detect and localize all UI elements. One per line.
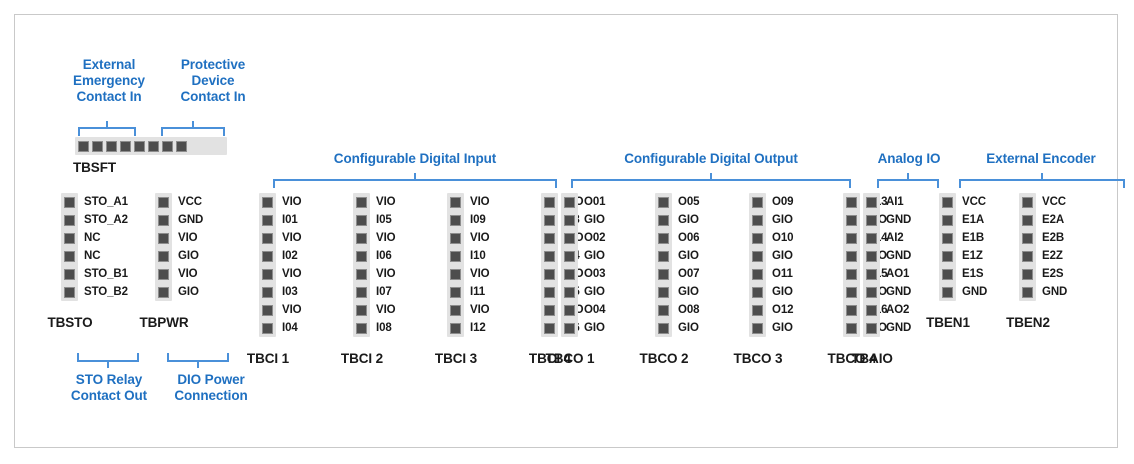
pin-label: I04 xyxy=(282,322,298,334)
pin-row[interactable]: GIO xyxy=(561,283,605,301)
pin[interactable] xyxy=(752,197,763,208)
pin[interactable] xyxy=(262,305,273,316)
block-name-tbco2: TBCO 2 xyxy=(633,351,695,367)
pin-label: GIO xyxy=(178,250,199,262)
pin-row[interactable]: AI2 xyxy=(863,229,911,247)
pin-label: GND xyxy=(962,286,987,298)
pin-row[interactable]: O07 xyxy=(655,265,699,283)
pin-row[interactable]: O06 xyxy=(655,229,699,247)
pin-label: VIO xyxy=(470,232,490,244)
pin[interactable] xyxy=(356,233,367,244)
pin-label: GIO xyxy=(178,286,199,298)
pin-row[interactable]: NC xyxy=(61,229,128,247)
pin-row[interactable]: AO1 xyxy=(863,265,911,283)
pin[interactable] xyxy=(1022,287,1033,298)
group-label-dio-power-connection: DIO PowerConnection xyxy=(161,372,261,404)
pin[interactable] xyxy=(262,197,273,208)
pin-row[interactable]: I11 xyxy=(447,283,490,301)
pin-row[interactable]: I04 xyxy=(259,319,302,337)
pin[interactable] xyxy=(544,269,555,280)
pin[interactable] xyxy=(846,233,857,244)
pin[interactable] xyxy=(752,323,763,334)
pin-row[interactable]: O08 xyxy=(655,301,699,319)
pin[interactable] xyxy=(658,215,669,226)
diagram-frame: ExternalEmergencyContact In ProtectiveDe… xyxy=(14,14,1118,448)
pin-label: GND xyxy=(1042,286,1067,298)
section-label-configurable-digital-input: Configurable Digital Input xyxy=(271,151,559,167)
pin[interactable] xyxy=(752,287,763,298)
pin-row[interactable]: E1S xyxy=(939,265,987,283)
pin[interactable] xyxy=(450,233,461,244)
pin[interactable] xyxy=(942,251,953,262)
pin-label: STO_B1 xyxy=(84,268,128,280)
pin[interactable] xyxy=(64,197,75,208)
pin[interactable] xyxy=(564,287,575,298)
group-label-protective-device-contact-in: ProtectiveDeviceContact In xyxy=(165,57,261,105)
block-name-tbaio: TBAIO xyxy=(841,351,903,367)
pin[interactable] xyxy=(158,287,169,298)
pin-row[interactable]: E1Z xyxy=(939,247,987,265)
pin[interactable] xyxy=(544,197,555,208)
pin[interactable] xyxy=(866,233,877,244)
pin[interactable] xyxy=(64,287,75,298)
pin[interactable] xyxy=(450,323,461,334)
pin-row[interactable]: GIO xyxy=(561,211,605,229)
pin-label: GIO xyxy=(678,214,699,226)
pin[interactable] xyxy=(564,251,575,262)
pin-row[interactable]: I12 xyxy=(447,319,490,337)
pin[interactable] xyxy=(846,287,857,298)
terminal-block-tbaio[interactable]: AI1GNDAI2GNDAO1GNDAO2GND xyxy=(863,193,911,337)
block-name-tbsft: TBSFT xyxy=(73,160,143,176)
pin-row[interactable]: VIO xyxy=(447,301,490,319)
block-name-tbci2: TBCI 2 xyxy=(331,351,393,367)
pin[interactable] xyxy=(544,323,555,334)
group-label-external-emergency-contact-in: ExternalEmergencyContact In xyxy=(61,57,157,105)
pin-label: VCC xyxy=(1042,196,1066,208)
pin-label: I05 xyxy=(376,214,392,226)
pin-label: O03 xyxy=(584,268,605,280)
pin-label: VIO xyxy=(376,268,396,280)
pin-row[interactable]: I07 xyxy=(353,283,396,301)
pin[interactable] xyxy=(92,141,103,152)
pin[interactable] xyxy=(846,269,857,280)
pin[interactable] xyxy=(846,305,857,316)
block-name-tben1: TBEN1 xyxy=(917,315,979,331)
pin-row[interactable]: O03 xyxy=(561,265,605,283)
pin[interactable] xyxy=(262,233,273,244)
pin-row[interactable]: GND xyxy=(939,283,987,301)
pin[interactable] xyxy=(450,251,461,262)
pin[interactable] xyxy=(148,141,159,152)
pin-row[interactable]: VIO xyxy=(447,229,490,247)
pin[interactable] xyxy=(1022,197,1033,208)
pin-label: I03 xyxy=(282,286,298,298)
pin[interactable] xyxy=(356,251,367,262)
pin-label: O01 xyxy=(584,196,605,208)
pin[interactable] xyxy=(176,141,187,152)
pin-label: GND xyxy=(886,250,911,262)
pin-row[interactable]: O02 xyxy=(561,229,605,247)
pin-label: O09 xyxy=(772,196,793,208)
pin-label: E2S xyxy=(1042,268,1063,280)
pin[interactable] xyxy=(866,215,877,226)
pin-row[interactable]: E2B xyxy=(1019,229,1067,247)
pin-label: VIO xyxy=(282,268,302,280)
pin-row[interactable]: NC xyxy=(61,247,128,265)
pin-label: GIO xyxy=(584,286,605,298)
pin-row[interactable]: VIO xyxy=(353,229,396,247)
pin-row[interactable]: GND xyxy=(155,211,203,229)
pin[interactable] xyxy=(544,251,555,262)
pin-row[interactable]: STO_A1 xyxy=(61,193,128,211)
pin-row[interactable]: GIO xyxy=(561,247,605,265)
pin[interactable] xyxy=(658,323,669,334)
pin[interactable] xyxy=(158,215,169,226)
block-name-tben2: TBEN2 xyxy=(997,315,1059,331)
pin-label: GND xyxy=(886,286,911,298)
pin-label: VIO xyxy=(282,232,302,244)
terminal-block-tbsft[interactable] xyxy=(75,137,227,155)
pin[interactable] xyxy=(356,269,367,280)
pin[interactable] xyxy=(158,233,169,244)
pin[interactable] xyxy=(866,251,877,262)
pin-row[interactable]: STO_B1 xyxy=(61,265,128,283)
pin-label: I12 xyxy=(470,322,486,334)
pin[interactable] xyxy=(450,269,461,280)
pin-row[interactable]: E1A xyxy=(939,211,987,229)
pin[interactable] xyxy=(1022,233,1033,244)
pin[interactable] xyxy=(262,287,273,298)
pin[interactable] xyxy=(752,269,763,280)
pin-label: E1Z xyxy=(962,250,983,262)
pin-label: GND xyxy=(178,214,203,226)
pin-label: STO_A1 xyxy=(84,196,128,208)
bracket-external-emergency xyxy=(78,121,136,137)
pin[interactable] xyxy=(544,215,555,226)
pin-row[interactable]: GIO xyxy=(155,247,203,265)
pin[interactable] xyxy=(450,215,461,226)
pin-row[interactable]: AO2 xyxy=(863,301,911,319)
pin[interactable] xyxy=(658,269,669,280)
pin[interactable] xyxy=(658,197,669,208)
pin-row[interactable]: GIO xyxy=(749,319,793,337)
pin-row[interactable]: O10 xyxy=(749,229,793,247)
pin[interactable] xyxy=(450,305,461,316)
pin[interactable] xyxy=(866,197,877,208)
pin-label: I07 xyxy=(376,286,392,298)
pin[interactable] xyxy=(64,233,75,244)
pin[interactable] xyxy=(450,287,461,298)
pin-label: O08 xyxy=(678,304,699,316)
pin-row[interactable]: GIO xyxy=(655,283,699,301)
pin-label: I01 xyxy=(282,214,298,226)
pin-label: E1S xyxy=(962,268,983,280)
pin-row[interactable]: I09 xyxy=(447,211,490,229)
terminal-block-tbco1[interactable]: O01GIOO02GIOO03GIOO04GIO xyxy=(561,193,605,337)
pin-row[interactable]: I05 xyxy=(353,211,396,229)
pin[interactable] xyxy=(356,287,367,298)
block-name-tbsto: TBSTO xyxy=(39,315,101,331)
pin[interactable] xyxy=(846,251,857,262)
pin-row[interactable]: GND xyxy=(863,211,911,229)
terminal-block-tbci1[interactable]: VIOI01VIOI02VIOI03VIOI04 xyxy=(259,193,302,337)
bracket-external-encoder xyxy=(959,173,1125,189)
pin[interactable] xyxy=(64,251,75,262)
pin-row[interactable]: VIO xyxy=(155,265,203,283)
pin-label: VIO xyxy=(470,304,490,316)
bracket-protective-device xyxy=(161,121,225,137)
pin-row[interactable]: O01 xyxy=(561,193,605,211)
pin-row[interactable]: VCC xyxy=(939,193,987,211)
pin-label: O12 xyxy=(772,304,793,316)
pin-label: O05 xyxy=(678,196,699,208)
block-name-tbpwr: TBPWR xyxy=(133,315,195,331)
terminal-block-tbco3[interactable]: O09GIOO10GIOO11GIOO12GIO xyxy=(749,193,793,337)
pin-label: AO2 xyxy=(886,304,909,316)
pin-label: STO_B2 xyxy=(84,286,128,298)
pin-label: GIO xyxy=(584,322,605,334)
pin[interactable] xyxy=(544,287,555,298)
pin-row[interactable]: VCC xyxy=(155,193,203,211)
pin[interactable] xyxy=(262,251,273,262)
pin-label: GIO xyxy=(678,322,699,334)
bracket-configurable-digital-output xyxy=(571,173,851,189)
pin[interactable] xyxy=(356,305,367,316)
pin[interactable] xyxy=(544,305,555,316)
bracket-configurable-digital-input xyxy=(273,173,557,189)
pin[interactable] xyxy=(564,305,575,316)
pin[interactable] xyxy=(356,323,367,334)
block-name-tbco1: TBCO 1 xyxy=(539,351,601,367)
block-name-tbci1: TBCI 1 xyxy=(237,351,299,367)
pin-row[interactable]: VIO xyxy=(353,301,396,319)
pin-row[interactable]: GIO xyxy=(561,319,605,337)
pin[interactable] xyxy=(866,305,877,316)
pin[interactable] xyxy=(262,269,273,280)
pin-label: O07 xyxy=(678,268,699,280)
pin-label: I10 xyxy=(470,250,486,262)
pin-label: GIO xyxy=(678,286,699,298)
pin[interactable] xyxy=(64,269,75,280)
section-label-analog-io: Analog IO xyxy=(867,151,951,167)
pin-row[interactable]: GIO xyxy=(749,211,793,229)
pin-row[interactable]: I02 xyxy=(259,247,302,265)
pin-label: GIO xyxy=(772,322,793,334)
pin-row[interactable]: VIO xyxy=(259,193,302,211)
pin-label: GIO xyxy=(584,214,605,226)
pin-row[interactable]: O09 xyxy=(749,193,793,211)
pin-row[interactable]: GIO xyxy=(749,283,793,301)
pin-label: O06 xyxy=(678,232,699,244)
pin[interactable] xyxy=(658,251,669,262)
pin[interactable] xyxy=(846,215,857,226)
terminal-block-tbsto[interactable]: STO_A1STO_A2NCNCSTO_B1STO_B2 xyxy=(61,193,128,301)
pin-label: I09 xyxy=(470,214,486,226)
terminal-block-tben2[interactable]: VCCE2AE2BE2ZE2SGND xyxy=(1019,193,1067,301)
pin-label: E2A xyxy=(1042,214,1064,226)
block-name-tbco3: TBCO 3 xyxy=(727,351,789,367)
pin-row[interactable]: AI1 xyxy=(863,193,911,211)
pin-row[interactable]: GIO xyxy=(155,283,203,301)
pin-label: GIO xyxy=(772,214,793,226)
pin-row[interactable]: GIO xyxy=(655,319,699,337)
bracket-sto-relay-contact-out xyxy=(77,353,139,369)
pin-row[interactable]: VIO xyxy=(447,193,490,211)
group-label-sto-relay-contact-out: STO RelayContact Out xyxy=(59,372,159,404)
pin[interactable] xyxy=(134,141,145,152)
pin-row[interactable]: GIO xyxy=(655,247,699,265)
pin-row[interactable]: VIO xyxy=(353,193,396,211)
pin-row[interactable]: GND xyxy=(1019,283,1067,301)
pin-label: AI2 xyxy=(886,232,904,244)
pin[interactable] xyxy=(752,305,763,316)
pin[interactable] xyxy=(658,233,669,244)
pin-row[interactable]: GND xyxy=(863,283,911,301)
pin[interactable] xyxy=(356,197,367,208)
pin-row[interactable]: O12 xyxy=(749,301,793,319)
pin[interactable] xyxy=(846,197,857,208)
pin[interactable] xyxy=(78,141,89,152)
pin[interactable] xyxy=(942,215,953,226)
pin-row[interactable]: VIO xyxy=(155,229,203,247)
pin-label: STO_A2 xyxy=(84,214,128,226)
pin[interactable] xyxy=(658,287,669,298)
pin-label: VIO xyxy=(282,304,302,316)
pin[interactable] xyxy=(262,323,273,334)
pin[interactable] xyxy=(162,141,173,152)
pin[interactable] xyxy=(564,323,575,334)
pin-row[interactable]: E1B xyxy=(939,229,987,247)
pin[interactable] xyxy=(846,323,857,334)
section-label-configurable-digital-output: Configurable Digital Output xyxy=(567,151,855,167)
pin[interactable] xyxy=(120,141,131,152)
terminal-block-tbci3[interactable]: VIOI09VIOI10VIOI11VIOI12 xyxy=(447,193,490,337)
pin-label: O11 xyxy=(772,268,793,280)
pin-row[interactable]: O11 xyxy=(749,265,793,283)
pin-label: VCC xyxy=(178,196,202,208)
pin-row[interactable]: VCC xyxy=(1019,193,1067,211)
terminal-block-tben1[interactable]: VCCE1AE1BE1ZE1SGND xyxy=(939,193,987,301)
pin-label: NC xyxy=(84,232,100,244)
pin-row[interactable]: GND xyxy=(863,247,911,265)
pin-label: VIO xyxy=(470,196,490,208)
pin[interactable] xyxy=(752,215,763,226)
pin-label: GIO xyxy=(584,250,605,262)
terminal-block-tbci2[interactable]: VIOI05VIOI06VIOI07VIOI08 xyxy=(353,193,396,337)
pin-label: VIO xyxy=(376,196,396,208)
pin-label: VIO xyxy=(178,232,198,244)
pin-row[interactable]: VIO xyxy=(353,265,396,283)
pin-label: VCC xyxy=(962,196,986,208)
pin-label: VIO xyxy=(376,304,396,316)
pin-label: VIO xyxy=(376,232,396,244)
pin[interactable] xyxy=(942,233,953,244)
pin[interactable] xyxy=(106,141,117,152)
pin-label: GND xyxy=(886,214,911,226)
pin-row[interactable]: I08 xyxy=(353,319,396,337)
pin-row[interactable]: VIO xyxy=(259,301,302,319)
pin[interactable] xyxy=(544,233,555,244)
pin-row[interactable]: VIO xyxy=(447,265,490,283)
pin[interactable] xyxy=(564,215,575,226)
pin-row[interactable]: E2A xyxy=(1019,211,1067,229)
pin-row[interactable]: STO_B2 xyxy=(61,283,128,301)
terminal-block-tbpwr[interactable]: VCCGNDVIOGIOVIOGIO xyxy=(155,193,203,301)
pin-label: VIO xyxy=(470,268,490,280)
pin[interactable] xyxy=(752,233,763,244)
pin-row[interactable]: VIO xyxy=(259,265,302,283)
pin[interactable] xyxy=(658,305,669,316)
pin-label: GND xyxy=(886,322,911,334)
bracket-analog-io xyxy=(877,173,939,189)
pin[interactable] xyxy=(564,269,575,280)
pin-label: I02 xyxy=(282,250,298,262)
pin-label: E2Z xyxy=(1042,250,1063,262)
pin-label: I06 xyxy=(376,250,392,262)
pin-row[interactable]: VIO xyxy=(259,229,302,247)
pin[interactable] xyxy=(942,287,953,298)
pin-row[interactable]: STO_A2 xyxy=(61,211,128,229)
pin-label: O04 xyxy=(584,304,605,316)
pin[interactable] xyxy=(1022,269,1033,280)
terminal-block-tbco2[interactable]: O05GIOO06GIOO07GIOO08GIO xyxy=(655,193,699,337)
pin-row[interactable]: E2S xyxy=(1019,265,1067,283)
pin-label: VIO xyxy=(178,268,198,280)
pin[interactable] xyxy=(866,269,877,280)
pin-row[interactable]: I01 xyxy=(259,211,302,229)
pin-label: I11 xyxy=(470,286,485,298)
pin-label: E2B xyxy=(1042,232,1064,244)
pin[interactable] xyxy=(158,269,169,280)
pin-label: I08 xyxy=(376,322,392,334)
pin[interactable] xyxy=(1022,215,1033,226)
pin[interactable] xyxy=(866,287,877,298)
pin[interactable] xyxy=(866,323,877,334)
pin-row[interactable]: GIO xyxy=(749,247,793,265)
pin[interactable] xyxy=(564,197,575,208)
pin-row[interactable]: O04 xyxy=(561,301,605,319)
pin-row[interactable]: E2Z xyxy=(1019,247,1067,265)
pin-row[interactable]: O05 xyxy=(655,193,699,211)
pin-label: O10 xyxy=(772,232,793,244)
pin-label: GIO xyxy=(678,250,699,262)
pin[interactable] xyxy=(942,197,953,208)
pin[interactable] xyxy=(64,215,75,226)
pin-label: GIO xyxy=(772,286,793,298)
pin-label: NC xyxy=(84,250,100,262)
pin[interactable] xyxy=(942,269,953,280)
pin-row[interactable]: I10 xyxy=(447,247,490,265)
pin[interactable] xyxy=(752,251,763,262)
pin-label: E1A xyxy=(962,214,984,226)
pin-row[interactable]: I06 xyxy=(353,247,396,265)
pin-row[interactable]: I03 xyxy=(259,283,302,301)
pin-label: AI1 xyxy=(886,196,904,208)
section-label-external-encoder: External Encoder xyxy=(953,151,1129,167)
pin[interactable] xyxy=(158,251,169,262)
pin-row[interactable]: GND xyxy=(863,319,911,337)
pin[interactable] xyxy=(158,197,169,208)
pin[interactable] xyxy=(564,233,575,244)
pin-label: E1B xyxy=(962,232,984,244)
pin[interactable] xyxy=(450,197,461,208)
pin-row[interactable]: GIO xyxy=(655,211,699,229)
pin[interactable] xyxy=(262,215,273,226)
bracket-dio-power-connection xyxy=(167,353,229,369)
pin[interactable] xyxy=(1022,251,1033,262)
pin[interactable] xyxy=(356,215,367,226)
